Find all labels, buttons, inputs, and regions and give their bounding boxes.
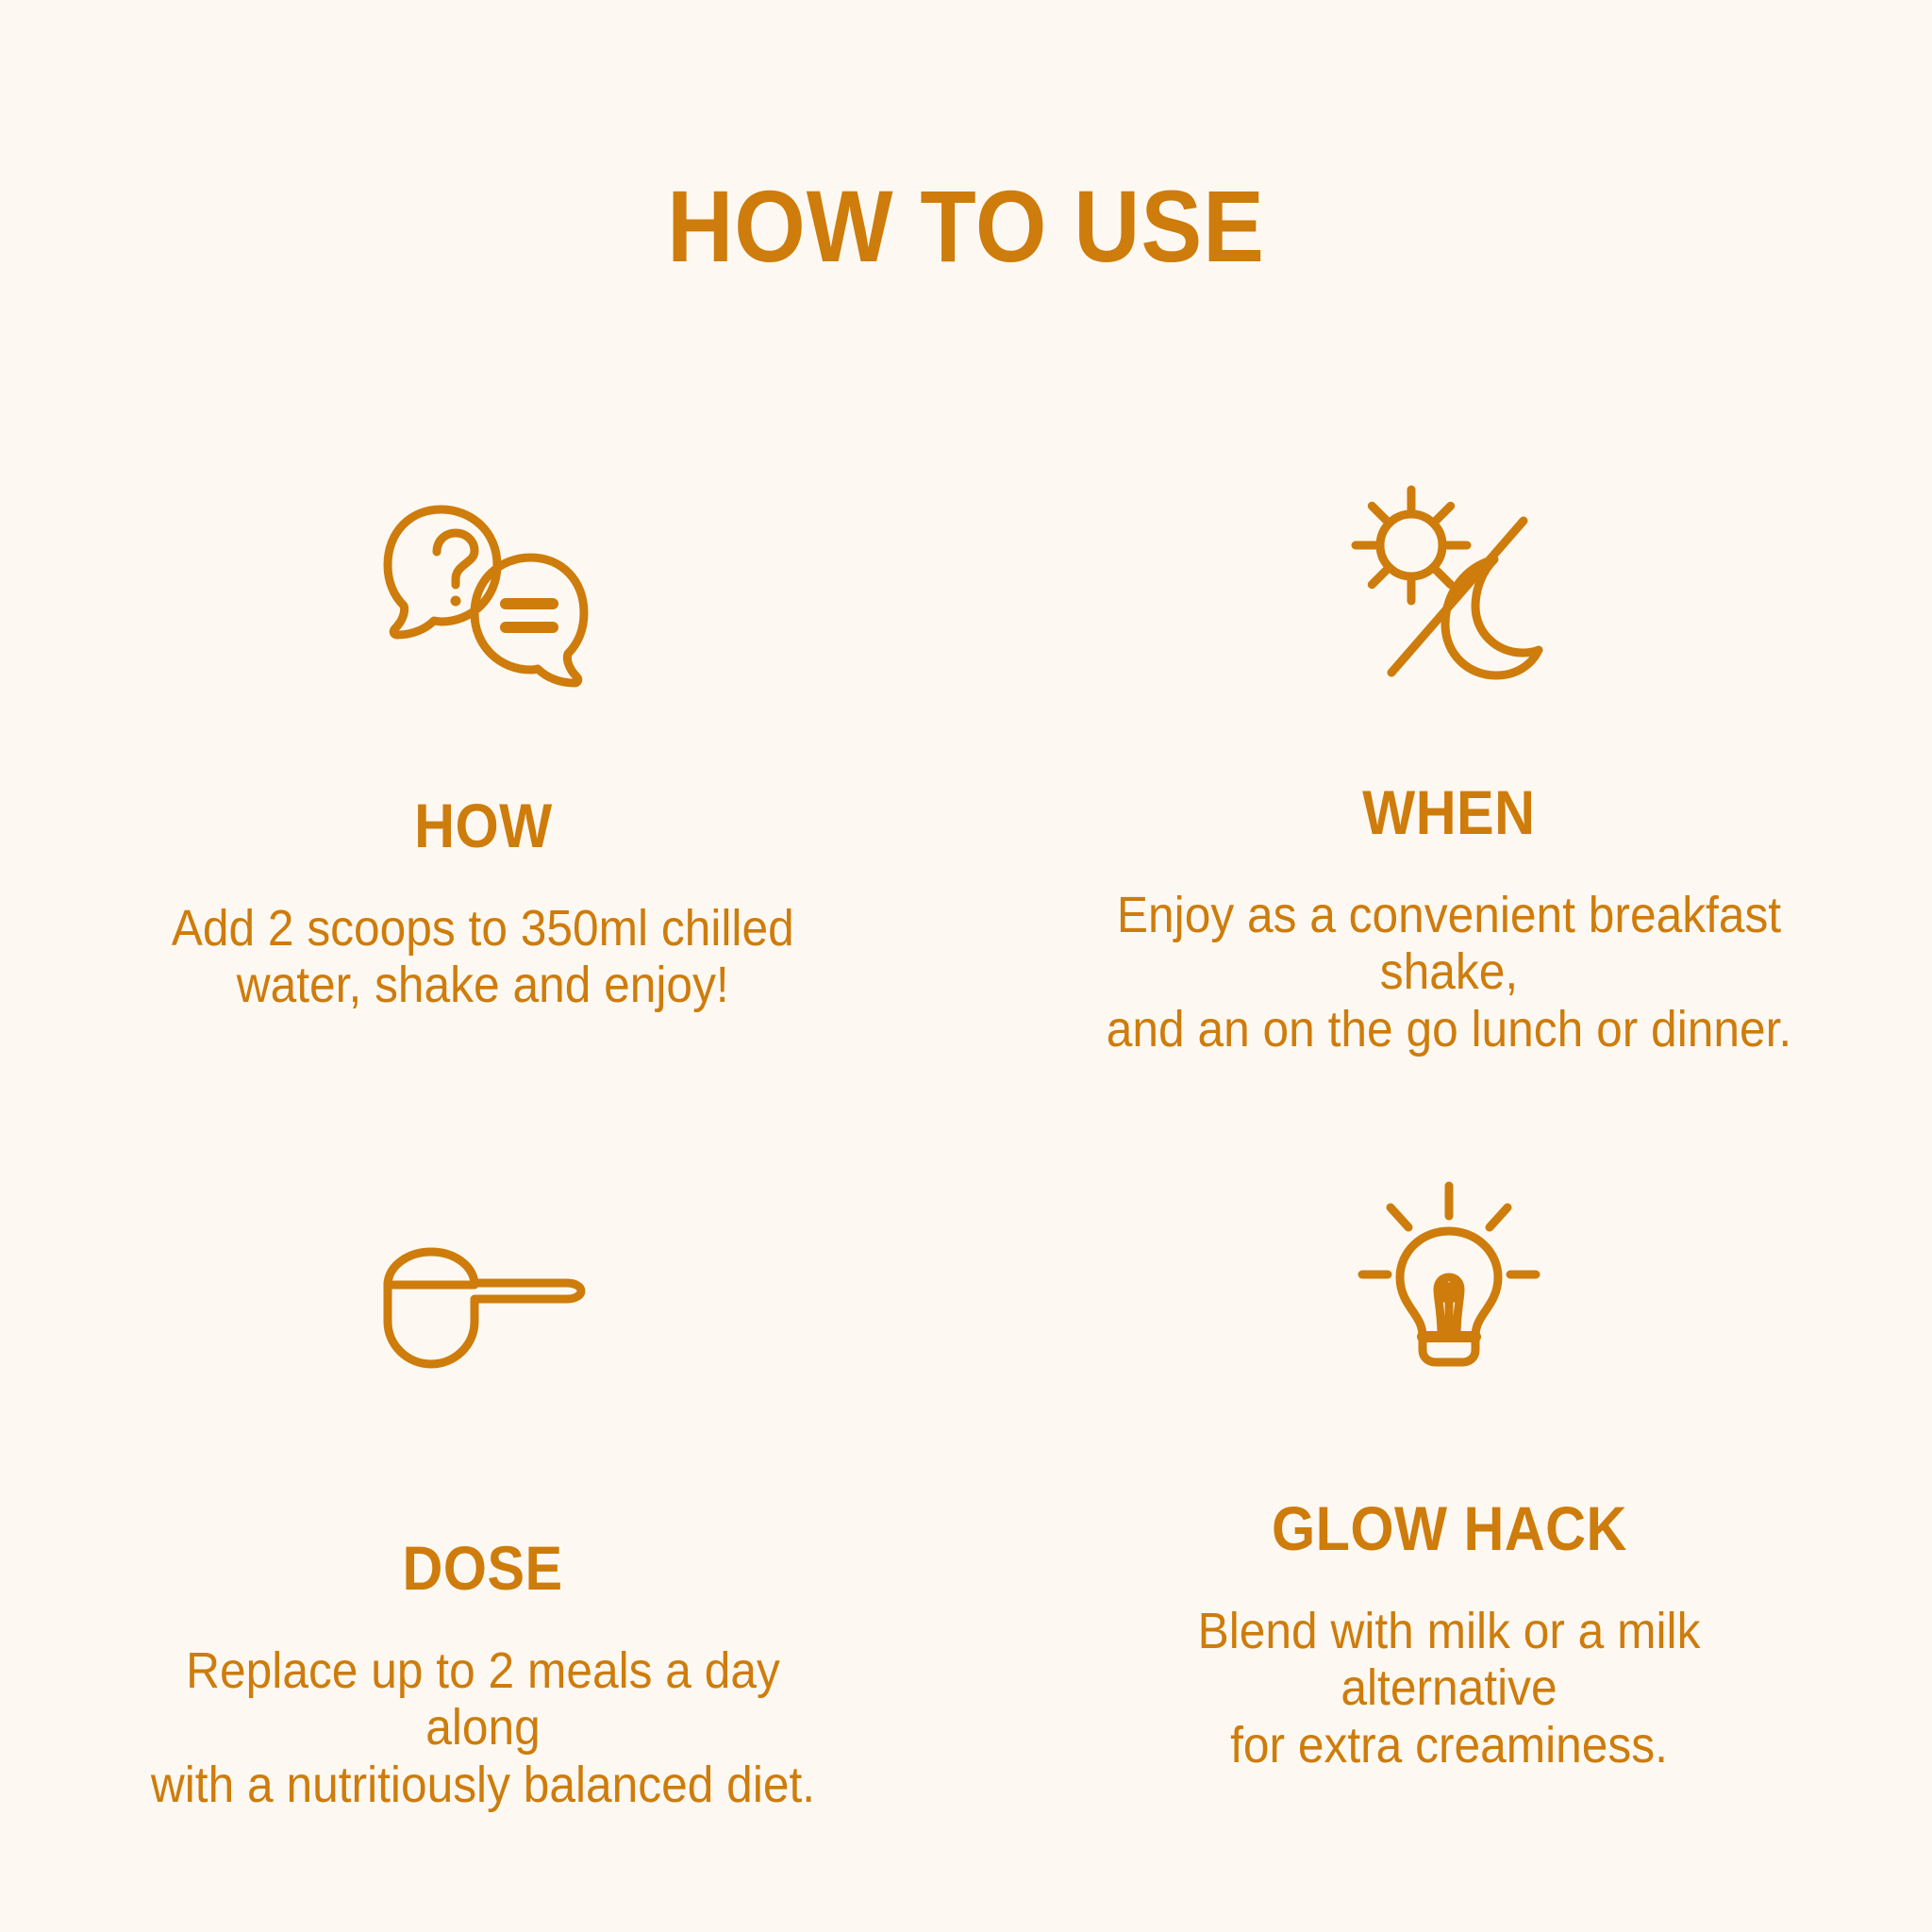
card-how: HOW Add 2 scoops to 350ml chilled water,… [0, 443, 966, 1146]
card-dose: DOSE Replace up to 2 meals a day along w… [0, 1146, 966, 1849]
card-heading-when: WHEN [1362, 781, 1535, 843]
speech-bubbles-question-icon [375, 443, 591, 740]
instruction-card-grid: HOW Add 2 scoops to 350ml chilled water,… [0, 443, 1932, 1849]
how-to-use-poster: HOW TO USE HOW Add 2 scoops to 350ml chi… [0, 0, 1932, 1932]
measuring-scoop-icon [382, 1146, 585, 1431]
card-heading-glow-hack: GLOW HACK [1272, 1497, 1627, 1559]
card-body-when: Enjoy as a convenient breakfast shake, a… [1093, 887, 1805, 1058]
card-when: WHEN Enjoy as a convenient breakfast sha… [966, 443, 1932, 1146]
card-body-dose: Replace up to 2 meals a day along with a… [127, 1642, 839, 1813]
card-heading-dose: DOSE [403, 1537, 563, 1599]
card-glow-hack: GLOW HACK Blend with milk or a milk alte… [966, 1146, 1932, 1849]
page-title: HOW TO USE [96, 175, 1835, 277]
card-body-how: Add 2 scoops to 350ml chilled water, sha… [172, 900, 794, 1014]
card-heading-how: HOW [414, 794, 553, 857]
card-body-glow-hack: Blend with milk or a milk alternative fo… [1093, 1603, 1805, 1774]
lightbulb-icon [1355, 1146, 1543, 1391]
sun-moon-icon [1348, 443, 1551, 726]
